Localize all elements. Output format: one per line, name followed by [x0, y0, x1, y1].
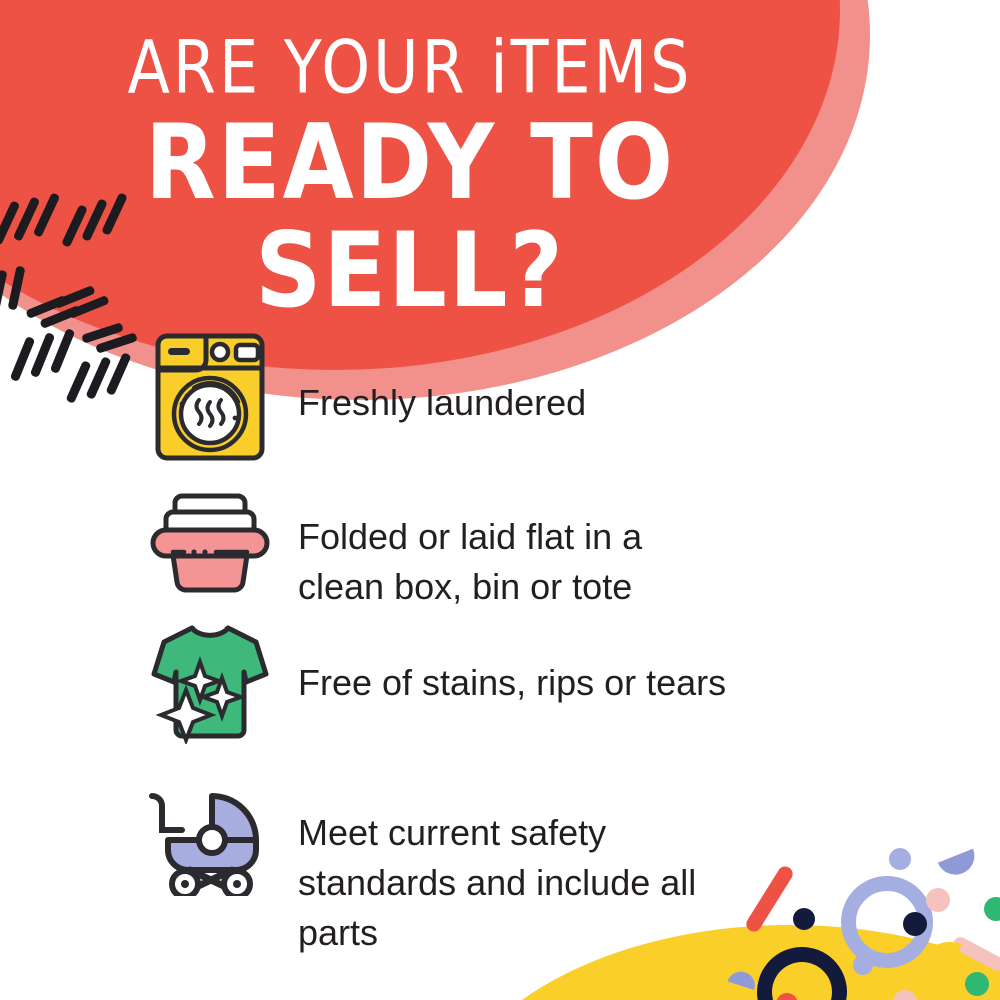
poster-canvas: ARE YOUR iTEMS READY TO SELL?: [0, 0, 1000, 1000]
confetti-half-moon-periwinkle: [938, 849, 980, 881]
confetti-ring-periwinkle: [841, 876, 933, 968]
confetti-dot-red: [776, 993, 798, 1000]
hatch-cluster-g: [70, 342, 150, 412]
checklist-item: Meet current safety standards and includ…: [140, 780, 728, 958]
headline-line-2: READY TO: [0, 112, 820, 215]
washing-machine-icon: [140, 330, 280, 465]
checklist-item-label: Freshly laundered: [280, 330, 586, 428]
confetti-dash-red: [744, 864, 796, 935]
headline-line-1: ARE YOUR iTEMS: [0, 24, 820, 111]
baby-stroller-icon: [140, 780, 280, 896]
confetti-half-moon-periwinkle-2: [728, 968, 759, 990]
confetti-dash-pink: [951, 935, 1000, 974]
checklist-item-label: Folded or laid flat in a clean box, bin …: [280, 490, 728, 612]
checklist-item-label: Free of stains, rips or tears: [280, 620, 726, 708]
confetti-dot-periwinkle-2: [853, 955, 873, 975]
hatch-cluster-f: [14, 330, 94, 400]
checklist-item: Free of stains, rips or tears: [140, 620, 726, 744]
confetti-arc-yellow: [905, 931, 995, 1000]
confetti-dot-periwinkle-1: [889, 848, 911, 870]
tshirt-sparkle-icon: [140, 620, 280, 744]
confetti-dot-navy-2: [903, 912, 927, 936]
confetti-arc-navy: [750, 940, 854, 1000]
confetti-dot-navy-1: [793, 908, 815, 930]
headline-line-3: SELL?: [0, 220, 820, 323]
confetti-dot-pink-2: [893, 990, 917, 1000]
checklist-item: Freshly laundered: [140, 330, 586, 465]
poster-headline: ARE YOUR iTEMS READY TO SELL?: [0, 24, 820, 312]
checklist-item: Folded or laid flat in a clean box, bin …: [140, 490, 728, 612]
laundry-basket-icon: [140, 490, 280, 594]
confetti-dot-green-1: [984, 897, 1000, 921]
checklist-item-label: Meet current safety standards and includ…: [280, 780, 728, 958]
confetti-dot-pink-1: [926, 888, 950, 912]
confetti-dot-green-2: [965, 972, 989, 996]
